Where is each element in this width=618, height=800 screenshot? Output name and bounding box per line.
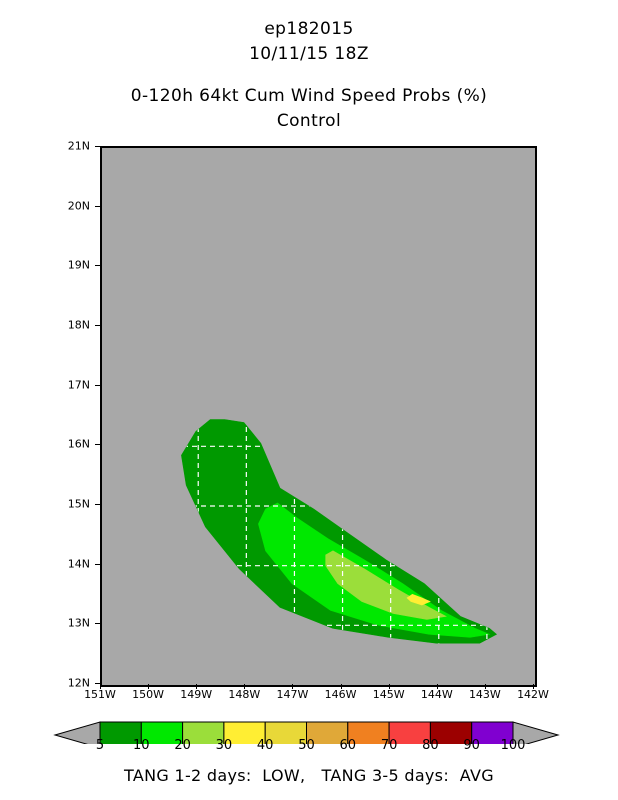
y-axis-tick-mark [95, 623, 100, 624]
y-axis-tick-label: 18N [50, 319, 90, 332]
y-axis-tick-mark [95, 146, 100, 147]
x-axis-tick-label: 148W [221, 688, 267, 701]
y-axis-tick-mark [95, 564, 100, 565]
colorbar-tick-5: 5 [96, 738, 104, 753]
colorbar-tick-90: 90 [463, 738, 480, 753]
y-axis-tick-label: 14N [50, 557, 90, 570]
colorbar-tick-30: 30 [216, 738, 233, 753]
x-axis-tick-mark [100, 684, 101, 689]
colorbar-tick-70: 70 [381, 738, 398, 753]
y-axis-tick-label: 16N [50, 438, 90, 451]
y-axis-tick-label: 21N [50, 140, 90, 153]
x-axis-tick-label: 150W [125, 688, 171, 701]
colorbar-tick-10: 10 [133, 738, 150, 753]
x-axis-tick-mark [292, 684, 293, 689]
x-axis-tick-label: 151W [77, 688, 123, 701]
colorbar-tick-60: 60 [340, 738, 357, 753]
x-axis-tick-mark [148, 684, 149, 689]
x-axis-tick-label: 143W [462, 688, 508, 701]
tang-footer-text: TANG 1-2 days: LOW, TANG 3-5 days: AVG [0, 766, 618, 785]
colorbar-tick-100: 100 [501, 738, 526, 753]
colorbar-tick-40: 40 [257, 738, 274, 753]
x-axis-tick-label: 149W [173, 688, 219, 701]
contour-map-svg [102, 148, 535, 685]
colorbar-tick-20: 20 [174, 738, 191, 753]
y-axis-tick-mark [95, 385, 100, 386]
datetime-title: 10/11/15 18Z [0, 42, 618, 67]
y-axis-tick-mark [95, 265, 100, 266]
y-axis-tick-mark [95, 504, 100, 505]
map-plot-area[interactable] [100, 146, 537, 687]
x-axis-tick-label: 144W [414, 688, 460, 701]
run-label-title: Control [0, 109, 618, 133]
y-axis-tick-label: 13N [50, 617, 90, 630]
y-axis-tick-label: 20N [50, 199, 90, 212]
y-axis-tick-mark [95, 206, 100, 207]
y-axis-tick-mark [95, 444, 100, 445]
x-axis-tick-label: 146W [318, 688, 364, 701]
x-axis-tick-mark [533, 684, 534, 689]
y-axis-tick-label: 15N [50, 498, 90, 511]
colorbar-tick-labels: 5102030405060708090100 [0, 738, 618, 756]
x-axis-tick-mark [244, 684, 245, 689]
x-axis-tick-mark [437, 684, 438, 689]
y-axis-tick-label: 17N [50, 378, 90, 391]
storm-id-title: ep182015 [0, 17, 618, 42]
x-axis-tick-label: 147W [269, 688, 315, 701]
x-axis-tick-mark [196, 684, 197, 689]
y-axis-tick-label: 19N [50, 259, 90, 272]
chart-titles: ep182015 10/11/15 18Z 0-120h 64kt Cum Wi… [0, 0, 618, 133]
x-axis-tick-mark [485, 684, 486, 689]
x-axis-tick-label: 142W [510, 688, 556, 701]
colorbar-tick-80: 80 [422, 738, 439, 753]
x-axis-tick-label: 145W [366, 688, 412, 701]
y-axis-tick-mark [95, 325, 100, 326]
x-axis-tick-mark [389, 684, 390, 689]
product-title: 0-120h 64kt Cum Wind Speed Probs (%) [0, 84, 618, 109]
x-axis-tick-mark [341, 684, 342, 689]
colorbar-tick-50: 50 [298, 738, 315, 753]
